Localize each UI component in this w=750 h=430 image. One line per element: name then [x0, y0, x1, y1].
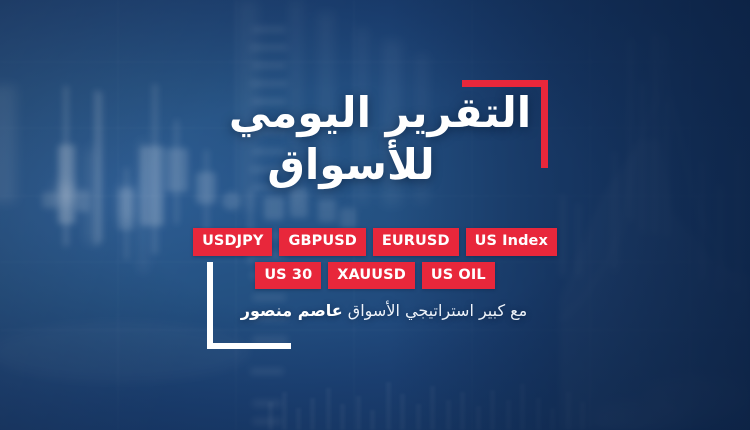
page-title: التقرير اليومي للأسواق — [0, 86, 750, 192]
background-vignette — [0, 0, 750, 430]
instrument-badge-row-1: USDJPY GBPUSD EURUSD US Index — [193, 228, 557, 256]
badge-gbpusd[interactable]: GBPUSD — [279, 228, 365, 256]
badge-us-30[interactable]: US 30 — [255, 262, 321, 290]
presenter-subtitle: مع كبير استراتيجي الأسواق عاصم منصور — [0, 300, 750, 322]
subtitle-prefix: مع كبير استراتيجي الأسواق — [343, 301, 528, 320]
badge-eurusd[interactable]: EURUSD — [373, 228, 459, 256]
title-line-1: التقرير اليومي — [32, 86, 728, 140]
market-report-poster: التقرير اليومي للأسواق USDJPY GBPUSD EUR… — [0, 0, 750, 430]
badge-us-index[interactable]: US Index — [466, 228, 557, 256]
badge-xauusd[interactable]: XAUUSD — [328, 262, 415, 290]
title-line-2: للأسواق — [32, 138, 728, 192]
presenter-name: عاصم منصور — [241, 301, 343, 320]
instrument-badge-row-2: US 30 XAUUSD US OIL — [255, 262, 494, 290]
instrument-badge-group: USDJPY GBPUSD EURUSD US Index US 30 XAUU… — [0, 228, 750, 289]
bracket-white-horizontal-bar — [207, 343, 291, 349]
badge-usdjpy[interactable]: USDJPY — [193, 228, 272, 256]
badge-us-oil[interactable]: US OIL — [422, 262, 495, 290]
